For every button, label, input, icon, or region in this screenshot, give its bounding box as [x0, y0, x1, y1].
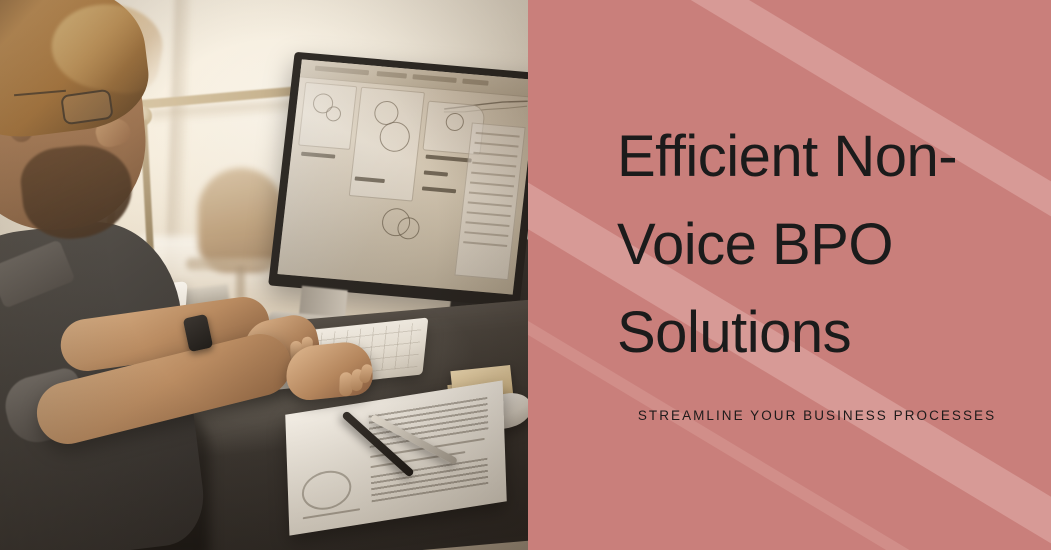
office-photograph [0, 0, 528, 550]
document-line [303, 508, 360, 519]
document-pie-chart [301, 467, 352, 513]
screen-shading [277, 59, 528, 294]
computer-monitor [268, 52, 528, 307]
chair-leg [236, 266, 245, 300]
page-title: Efficient Non-Voice BPO Solutions [617, 113, 1017, 377]
headline-text-group: Efficient Non-Voice BPO Solutions STREAM… [617, 0, 1017, 550]
finger [358, 363, 374, 384]
monitor-screen [277, 59, 528, 294]
page-subtitle: STREAMLINE YOUR BUSINESS PROCESSES [617, 408, 1017, 423]
headline-panel: Efficient Non-Voice BPO Solutions STREAM… [528, 0, 1051, 550]
promotional-banner: Efficient Non-Voice BPO Solutions STREAM… [0, 0, 1051, 550]
